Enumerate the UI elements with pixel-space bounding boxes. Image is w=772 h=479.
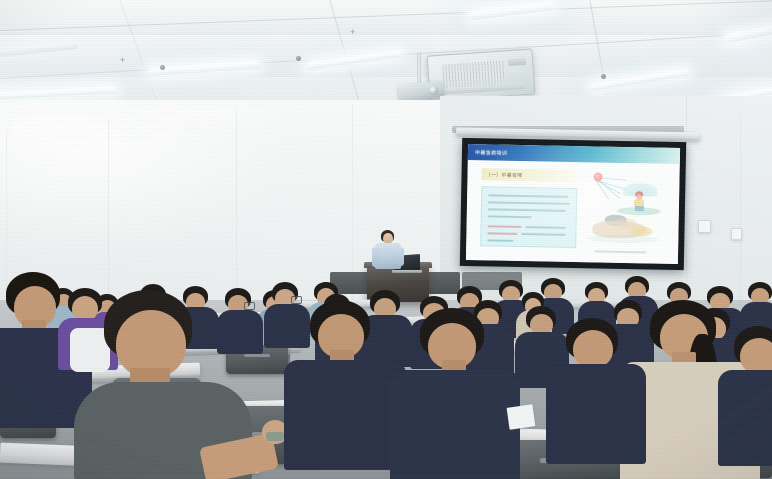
projector-mount-rod	[417, 52, 421, 84]
wall-power-outlet	[731, 228, 742, 240]
classroom-photo: + + + 中暑急救培训	[0, 0, 772, 479]
ceiling-sprinkler	[601, 74, 606, 79]
ceiling-sensor-icon: +	[120, 56, 125, 65]
slide-illustration-sun-parasol	[583, 168, 672, 216]
ceiling-sprinkler	[160, 65, 165, 70]
projection-screen-surface: 中暑急救培训 （一）中暑有哪	[466, 144, 680, 264]
slide-title-bar: （一）中暑有哪	[481, 168, 575, 182]
ceiling-sensor-icon: +	[350, 28, 355, 37]
wristwatch	[266, 432, 284, 441]
wall-power-outlet	[698, 220, 711, 233]
presenter	[372, 230, 406, 272]
slide-body-textbox	[480, 186, 577, 248]
projection-screen-frame: 中暑急救培训 （一）中暑有哪	[460, 138, 686, 270]
slide-title-text: （一）中暑有哪	[485, 171, 522, 179]
slide-header-band: 中暑急救培训	[468, 144, 680, 164]
projector-lens-icon	[429, 86, 439, 96]
presentation-slide: 中暑急救培训 （一）中暑有哪	[466, 144, 680, 264]
slide-illustration-lying-person	[582, 212, 671, 248]
ceiling-sprinkler	[296, 56, 301, 61]
eyeglasses	[291, 296, 302, 304]
handout-paper	[507, 404, 536, 429]
eyeglasses	[244, 302, 255, 310]
slide-header-title: 中暑急救培训	[475, 149, 508, 157]
